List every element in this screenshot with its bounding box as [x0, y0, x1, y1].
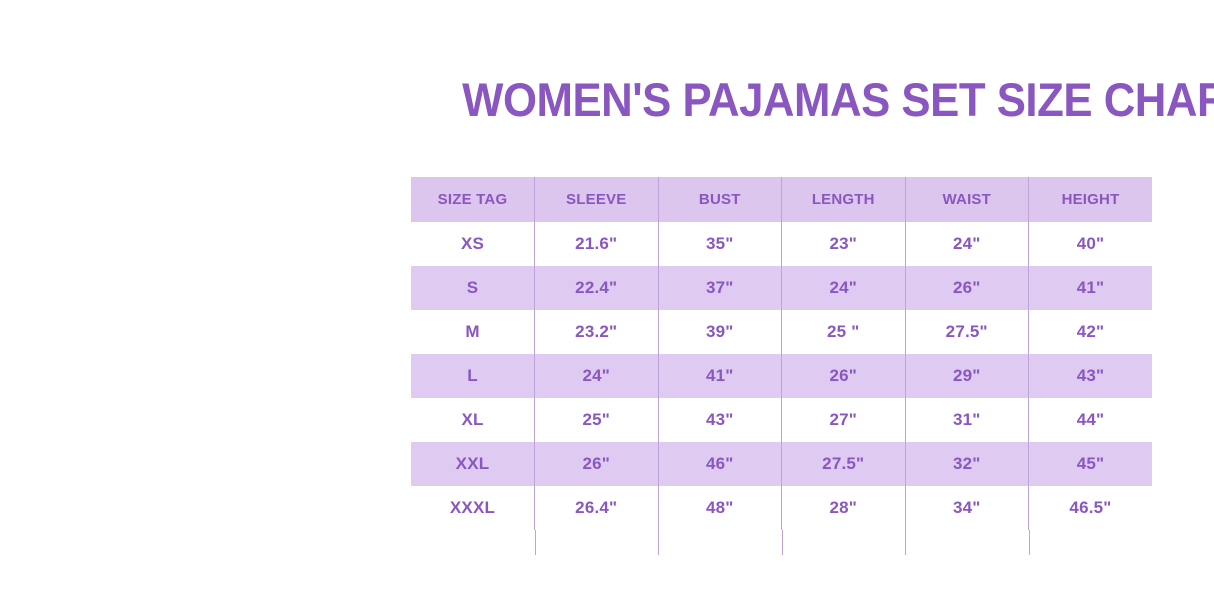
- measurement-cell: 43": [1029, 354, 1153, 398]
- size-chart-table-container: SIZE TAGSLEEVEBUSTLENGTHWAISTHEIGHT XS21…: [411, 177, 1152, 530]
- size-tag-cell: XXL: [411, 442, 535, 486]
- column-header-length: LENGTH: [782, 177, 906, 222]
- table-body: XS21.6"35"23"24"40"S22.4"37"24"26"41"M23…: [411, 222, 1152, 530]
- table-header: SIZE TAGSLEEVEBUSTLENGTHWAISTHEIGHT: [411, 177, 1152, 222]
- column-header-height: HEIGHT: [1029, 177, 1153, 222]
- page-title: WOMEN'S PAJAMAS SET SIZE CHART: [462, 75, 1142, 124]
- column-divider-tails: [411, 530, 1152, 555]
- table-row: M23.2"39"25 "27.5"42": [411, 310, 1152, 354]
- measurement-cell: 34": [905, 486, 1029, 530]
- measurement-cell: 22.4": [535, 266, 659, 310]
- column-divider: [1029, 530, 1030, 555]
- measurement-cell: 26.4": [535, 486, 659, 530]
- measurement-cell: 46.5": [1029, 486, 1153, 530]
- column-header-size-tag: SIZE TAG: [411, 177, 535, 222]
- measurement-cell: 27": [782, 398, 906, 442]
- measurement-cell: 37": [658, 266, 782, 310]
- measurement-cell: 48": [658, 486, 782, 530]
- table-row: L24"41"26"29"43": [411, 354, 1152, 398]
- column-divider: [535, 530, 536, 555]
- size-tag-cell: S: [411, 266, 535, 310]
- size-tag-cell: XL: [411, 398, 535, 442]
- measurement-cell: 23.2": [535, 310, 659, 354]
- table-row: S22.4"37"24"26"41": [411, 266, 1152, 310]
- measurement-cell: 42": [1029, 310, 1153, 354]
- measurement-cell: 31": [905, 398, 1029, 442]
- measurement-cell: 26": [535, 442, 659, 486]
- measurement-cell: 24": [905, 222, 1029, 266]
- measurement-cell: 27.5": [905, 310, 1029, 354]
- column-divider: [782, 530, 783, 555]
- measurement-cell: 41": [658, 354, 782, 398]
- column-header-bust: BUST: [658, 177, 782, 222]
- measurement-cell: 21.6": [535, 222, 659, 266]
- size-chart-page: WOMEN'S PAJAMAS SET SIZE CHART SIZE TAGS…: [0, 0, 1214, 607]
- table-row: XL25"43"27"31"44": [411, 398, 1152, 442]
- measurement-cell: 25 ": [782, 310, 906, 354]
- size-tag-cell: XS: [411, 222, 535, 266]
- measurement-cell: 45": [1029, 442, 1153, 486]
- column-header-sleeve: SLEEVE: [535, 177, 659, 222]
- size-tag-cell: M: [411, 310, 535, 354]
- measurement-cell: 26": [905, 266, 1029, 310]
- measurement-cell: 32": [905, 442, 1029, 486]
- table-header-row: SIZE TAGSLEEVEBUSTLENGTHWAISTHEIGHT: [411, 177, 1152, 222]
- measurement-cell: 28": [782, 486, 906, 530]
- measurement-cell: 26": [782, 354, 906, 398]
- column-divider: [658, 530, 659, 555]
- table-row: XXXL26.4"48"28"34"46.5": [411, 486, 1152, 530]
- measurement-cell: 43": [658, 398, 782, 442]
- table-row: XXL26"46"27.5"32"45": [411, 442, 1152, 486]
- measurement-cell: 24": [782, 266, 906, 310]
- size-chart-table: SIZE TAGSLEEVEBUSTLENGTHWAISTHEIGHT XS21…: [411, 177, 1152, 530]
- measurement-cell: 25": [535, 398, 659, 442]
- measurement-cell: 29": [905, 354, 1029, 398]
- measurement-cell: 40": [1029, 222, 1153, 266]
- measurement-cell: 35": [658, 222, 782, 266]
- measurement-cell: 23": [782, 222, 906, 266]
- column-header-waist: WAIST: [905, 177, 1029, 222]
- measurement-cell: 44": [1029, 398, 1153, 442]
- size-tag-cell: L: [411, 354, 535, 398]
- measurement-cell: 46": [658, 442, 782, 486]
- measurement-cell: 24": [535, 354, 659, 398]
- column-divider: [905, 530, 906, 555]
- table-row: XS21.6"35"23"24"40": [411, 222, 1152, 266]
- size-tag-cell: XXXL: [411, 486, 535, 530]
- measurement-cell: 27.5": [782, 442, 906, 486]
- measurement-cell: 41": [1029, 266, 1153, 310]
- measurement-cell: 39": [658, 310, 782, 354]
